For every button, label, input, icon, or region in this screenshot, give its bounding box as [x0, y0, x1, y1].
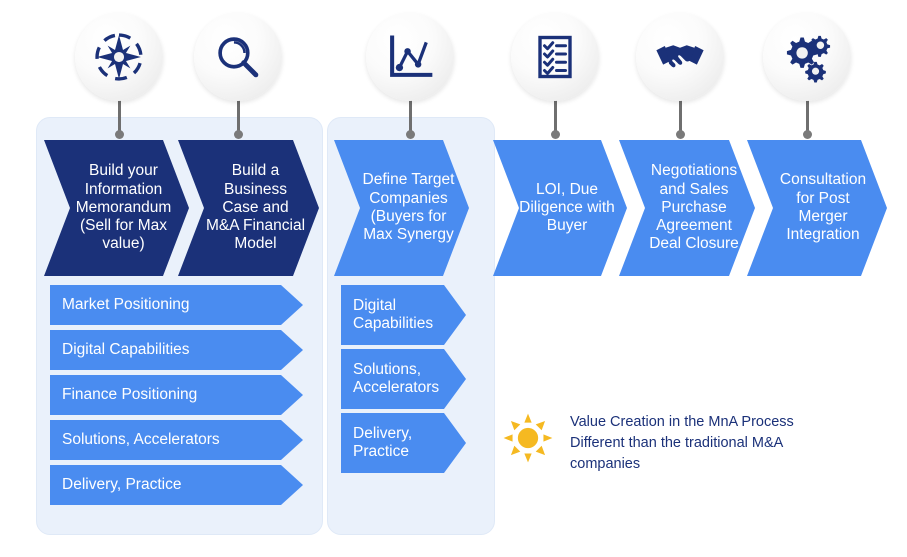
- connector-line-4: [554, 98, 557, 133]
- sub-item-g2-3[interactable]: Delivery, Practice: [341, 413, 466, 473]
- stage-label-2: Build a Business Case and M&A Financial …: [204, 162, 307, 253]
- sub-item-g1-1[interactable]: Market Positioning: [50, 285, 303, 325]
- sub-item-label: Delivery, Practice: [62, 476, 181, 495]
- sub-item-label: Digital Capabilities: [353, 297, 466, 334]
- sub-item-label: Solutions, Accelerators: [62, 431, 220, 450]
- stage-label-4: LOI, Due Diligence with Buyer: [519, 181, 615, 236]
- stage-chevron-4[interactable]: LOI, Due Diligence with Buyer: [493, 140, 627, 276]
- sub-item-label: Solutions, Accelerators: [353, 361, 466, 398]
- icon-circle-4[interactable]: [511, 13, 599, 101]
- sub-item-label: Market Positioning: [62, 296, 190, 315]
- sub-item-g2-1[interactable]: Digital Capabilities: [341, 285, 466, 345]
- connector-line-1: [118, 98, 121, 133]
- handshake-icon: [653, 30, 707, 84]
- diagram-canvas: Build your Information Memorandum (Sell …: [0, 0, 907, 557]
- sub-item-label: Digital Capabilities: [62, 341, 190, 360]
- connector-line-6: [806, 98, 809, 133]
- connector-line-5: [679, 98, 682, 133]
- connector-dot-5: [676, 130, 685, 139]
- stage-label-1: Build your Information Memorandum (Sell …: [68, 162, 179, 253]
- sub-item-label: Finance Positioning: [62, 386, 197, 405]
- connector-dot-1: [115, 130, 124, 139]
- connector-line-3: [409, 98, 412, 133]
- stage-chevron-6[interactable]: Consultation for Post Merger Integration: [747, 140, 887, 276]
- legend: Value Creation in the MnA Process Differ…: [502, 412, 852, 475]
- gears-icon: [781, 31, 833, 83]
- sub-item-g1-3[interactable]: Finance Positioning: [50, 375, 303, 415]
- connector-dot-6: [803, 130, 812, 139]
- stage-label-3: Define Target Companies (Buyers for Max …: [358, 171, 459, 244]
- connector-dot-4: [551, 130, 560, 139]
- sub-item-label: Delivery, Practice: [353, 425, 466, 462]
- sub-item-g1-2[interactable]: Digital Capabilities: [50, 330, 303, 370]
- stage-label-6: Consultation for Post Merger Integration: [773, 171, 873, 244]
- sun-icon: [502, 412, 554, 469]
- connector-line-2: [237, 98, 240, 133]
- icon-circle-2[interactable]: [194, 13, 282, 101]
- sub-item-g1-5[interactable]: Delivery, Practice: [50, 465, 303, 505]
- stage-label-5: Negotiations and Sales Purchase Agreemen…: [645, 162, 743, 253]
- icon-circle-1[interactable]: [75, 13, 163, 101]
- icon-circle-6[interactable]: [763, 13, 851, 101]
- sub-item-g2-2[interactable]: Solutions, Accelerators: [341, 349, 466, 409]
- sub-item-g1-4[interactable]: Solutions, Accelerators: [50, 420, 303, 460]
- icon-circle-3[interactable]: [366, 13, 454, 101]
- legend-text: Value Creation in the MnA Process Differ…: [570, 412, 852, 475]
- compass-icon: [92, 30, 146, 84]
- connector-dot-2: [234, 130, 243, 139]
- line-chart-icon: [384, 31, 436, 83]
- stage-chevron-5[interactable]: Negotiations and Sales Purchase Agreemen…: [619, 140, 755, 276]
- icon-circle-5[interactable]: [636, 13, 724, 101]
- checklist-icon: [531, 33, 579, 81]
- magnifier-icon: [212, 31, 264, 83]
- connector-dot-3: [406, 130, 415, 139]
